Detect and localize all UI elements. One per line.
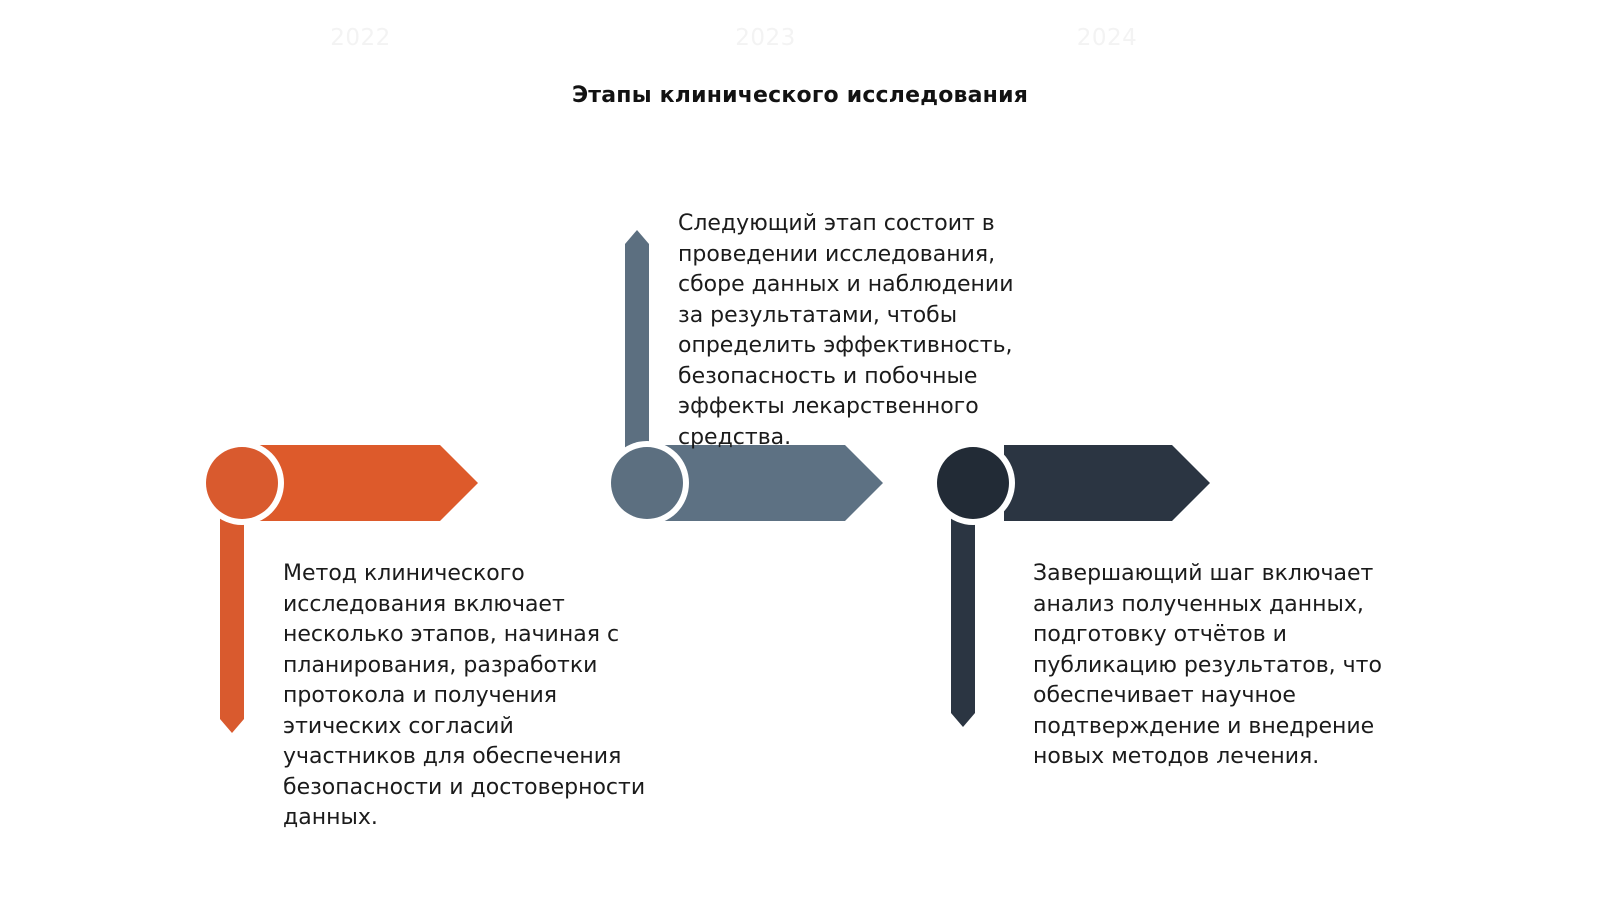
timeline-infographic: Этапы клинического исследования Метод кл… <box>0 0 1600 900</box>
milestone-year-label: 2024 <box>1004 0 1210 76</box>
page-title: Этапы клинического исследования <box>0 83 1600 108</box>
milestone-marker-dot[interactable] <box>206 447 278 519</box>
milestone-description: Следующий этап состоит в проведении иссл… <box>678 209 1028 453</box>
milestone-marker-dot[interactable] <box>611 447 683 519</box>
milestone-marker-dot[interactable] <box>937 447 1009 519</box>
milestone-year-label: 2023 <box>648 0 883 76</box>
milestone-description: Завершающий шаг включает анализ полученн… <box>1033 559 1393 773</box>
milestone-description: Метод клинического исследования включает… <box>283 559 653 834</box>
connector-stem-down-icon <box>220 505 244 733</box>
connector-stem-down-icon <box>951 505 975 727</box>
milestone-chevron-banner[interactable] <box>1004 445 1210 521</box>
milestone-year-label: 2022 <box>243 0 478 76</box>
connector-stem-up-icon <box>625 230 649 462</box>
